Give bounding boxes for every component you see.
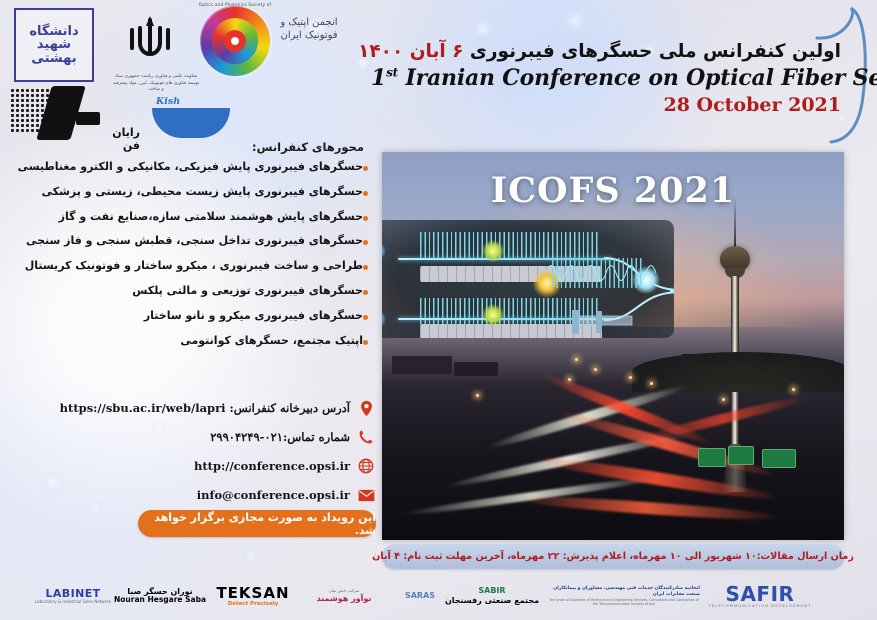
sponsor-nouran-label-en: Nouran Hesgare Saba: [114, 596, 206, 604]
sponsor-union-label-fa: اتحادیه صادرکنندگان خدمات فنی مهندسی، مش…: [548, 586, 700, 600]
bragg-grating-top: [420, 232, 600, 258]
sponsor-telecom-services-union: اتحادیه صادرکنندگان خدمات فنی مهندسی، مش…: [548, 576, 700, 616]
bullet-icon: [363, 290, 368, 295]
street-lamp: [629, 376, 632, 379]
sponsor-teksan-label: TEKSAN: [216, 585, 289, 602]
iran-emblem-icon: [122, 14, 178, 68]
bullet-icon: [363, 166, 368, 171]
sponsor-labinet: LABINET Laboratory & Industrial Sales Ne…: [26, 576, 120, 616]
tower-antenna-mast: [734, 192, 736, 250]
virtual-event-notice: این رویداد به صورت مجازی برگزار خواهد شد…: [138, 510, 376, 537]
sponsor-sabir-label: SABIR: [478, 587, 505, 596]
envelope-icon: [356, 485, 376, 505]
contact-email-text[interactable]: info@conference.opsi.ir: [10, 488, 350, 502]
conference-photo-panel: ICOFS 2021: [382, 152, 844, 540]
caliper-icon: [570, 308, 636, 336]
sponsor-rafsanjan-label: مجتمع صنعتی رفسنجان: [445, 596, 539, 605]
sponsor-safir-sub: TELECOMMUNICATION DEVELOPMENT: [709, 605, 812, 609]
deadlines-text: زمان ارسال مقالات:۱۰ شهریور الی ۱۰ مهرما…: [372, 551, 854, 562]
sponsor-union-label-en: The Union of Exporters of Technical and …: [548, 599, 700, 606]
sponsor-nouran-hesgare-saba: نوران حسگر صبا Nouran Hesgare Saba: [112, 576, 208, 616]
taillight-trail: [512, 493, 782, 524]
input-port-glow: [382, 310, 386, 328]
virtual-event-notice-text: این رویداد به صورت مجازی برگزار خواهد شد…: [138, 511, 376, 537]
hill-mass: [632, 352, 844, 392]
photonic-circuit-overlay: [382, 220, 674, 338]
street-lamp: [650, 382, 653, 385]
topic-item: حسگرهای پایش هوشمند سلامتی سازه،صنایع نف…: [6, 210, 378, 224]
title-ordinal-suffix: st: [386, 66, 398, 80]
street-lamp: [575, 358, 578, 361]
bullet-icon: [363, 240, 368, 245]
topics-heading: محورهای کنفرانس:: [6, 140, 378, 160]
contact-section: آدرس دبیرخانه کنفرانس: https://sbu.ac.ir…: [10, 398, 378, 514]
rayan-fan-bar-mark: [76, 112, 100, 125]
topic-label: حسگرهای فیبرنوری پایش فیزیکی، مکانیکی و …: [6, 160, 363, 174]
phone-icon: [356, 427, 376, 447]
contact-address-text: آدرس دبیرخانه کنفرانس: https://sbu.ac.ir…: [10, 401, 350, 415]
conference-poster: دانشگاه شهید بهشتی معاونت علمی و فناوری …: [0, 0, 877, 620]
sbu-logo-text: دانشگاه شهید بهشتی: [16, 25, 92, 66]
bokeh-dot: [240, 545, 262, 567]
street-lamp: [722, 398, 725, 401]
bokeh-dot: [470, 16, 496, 42]
sponsor-rafsanjan-industrial-complex: SABIR مجتمع صنعتی رفسنجان: [438, 576, 546, 616]
sponsor-teksan-tagline: Detect Precisely: [228, 601, 279, 607]
contact-row-phone: شماره تماس:۰۲۱-۲۹۹۰۴۲۴۹: [10, 427, 378, 447]
sponsor-saras-label: SARAS: [405, 592, 435, 601]
street-lamp: [594, 368, 597, 371]
title-persian-text: اولین کنفرانس ملی حسگرهای فیبرنوری: [470, 41, 841, 62]
title-english-text: Iranian Conference on Optical Fiber Sens…: [405, 65, 877, 91]
sponsor-safir: SAFIR TELECOMMUNICATION DEVELOPMENT: [700, 576, 820, 616]
kish-mechatronics-swoosh: [152, 108, 230, 138]
skyline-block: [454, 362, 498, 376]
contact-row-email: info@conference.opsi.ir: [10, 485, 378, 505]
globe-icon: [356, 456, 376, 476]
topic-item: حسگرهای فیبرنوری توزیعی و مالتی پلکس: [6, 284, 378, 298]
shahid-beheshti-university-logo: دانشگاه شهید بهشتی: [14, 8, 94, 82]
street-lamp: [792, 388, 795, 391]
topic-label: طراحی و ساخت فیبرنوری ، میکرو ساختار و ف…: [6, 259, 363, 273]
highway-sign: [698, 448, 726, 467]
sponsor-labinet-sub: Laboratory & Industrial Sales Network: [35, 600, 111, 604]
contact-phone-text: شماره تماس:۰۲۱-۲۹۹۰۴۲۴۹: [10, 430, 350, 444]
topic-item: حسگرهای فیبرنوری پایش زیست محیطی، زیستی …: [6, 185, 378, 199]
opsi-logo-fa-text: انجمن اپتیک و فوتونیک ایران: [276, 16, 342, 42]
title-english: 1st Iranian Conference on Optical Fiber …: [371, 65, 841, 91]
topic-item: حسگرهای فیبرنوری میکرو و نانو ساختار: [6, 309, 378, 323]
skyline-block: [392, 356, 452, 374]
topic-item: طراحی و ساخت فیبرنوری ، میکرو ساختار و ف…: [6, 259, 378, 273]
topic-label: اپتیک مجتمع، حسگرهای کوانتومی: [6, 334, 363, 348]
sponsor-safir-label: SAFIR: [726, 583, 795, 605]
light-source-glow: [482, 304, 504, 326]
optics-photonics-society-iran-logo: [200, 6, 270, 76]
street-lamp: [476, 394, 479, 397]
title-ordinal: 1: [371, 65, 386, 91]
title-persian-date: ۶ آبان ۱۴۰۰: [358, 41, 463, 62]
sponsor-logo-bar-top: دانشگاه شهید بهشتی معاونت علمی و فناوری …: [0, 0, 420, 150]
topic-label: حسگرهای فیبرنوری توزیعی و مالتی پلکس: [6, 284, 363, 298]
topic-label: حسگرهای پایش هوشمند سلامتی سازه،صنایع نف…: [6, 210, 363, 224]
title-block: اولین کنفرانس ملی حسگرهای فیبرنوری ۶ آبا…: [371, 40, 841, 116]
bokeh-dot: [560, 6, 590, 36]
topic-label: حسگرهای فیبرنوری میکرو و نانو ساختار: [6, 309, 363, 323]
map-pin-icon: [356, 398, 376, 418]
title-date-english: 28 October 2021: [371, 94, 841, 116]
contact-website-text[interactable]: http://conference.opsi.ir: [10, 459, 350, 473]
bullet-icon: [363, 315, 368, 320]
kish-mechatronics-logo: Kish Mechatronics: [148, 92, 234, 138]
rayan-fan-logo: رایان فن: [10, 86, 140, 142]
contact-row-website: http://conference.opsi.ir: [10, 456, 378, 476]
highway-night-scene: [382, 352, 844, 540]
topic-item: حسگرهای فیبرنوری تداخل سنجی، قطبش سنجی و…: [6, 234, 378, 248]
output-waveguide: [670, 290, 674, 292]
bullet-icon: [363, 340, 368, 345]
conference-topics-section: محورهای کنفرانس: حسگرهای فیبرنوری پایش ف…: [6, 140, 378, 358]
icofs-wordmark: ICOFS 2021: [382, 170, 844, 211]
sponsor-logo-bar-bottom: LABINET Laboratory & Industrial Sales Ne…: [0, 572, 877, 620]
topic-label: حسگرهای فیبرنوری تداخل سنجی، قطبش سنجی و…: [6, 234, 363, 248]
topic-label: حسگرهای فیبرنوری پایش زیست محیطی، زیستی …: [6, 185, 363, 199]
highway-sign: [762, 449, 796, 468]
opsi-outer-ring: [200, 6, 272, 78]
input-port-glow: [382, 242, 386, 260]
sponsor-noavar-hooshmand: شرکت دانش بنیان نوآور هوشمند: [296, 576, 392, 616]
sponsor-teksan: TEKSAN Detect Precisely: [208, 576, 298, 616]
bullet-icon: [363, 265, 368, 270]
sponsor-noavar-label: نوآور هوشمند: [317, 594, 372, 603]
light-source-glow: [482, 240, 504, 262]
deadlines-bar: زمان ارسال مقالات:۱۰ شهریور الی ۱۰ مهرما…: [382, 544, 844, 569]
bullet-icon: [363, 216, 368, 221]
contact-row-address: آدرس دبیرخانه کنفرانس: https://sbu.ac.ir…: [10, 398, 378, 418]
topic-item: حسگرهای فیبرنوری پایش فیزیکی، مکانیکی و …: [6, 160, 378, 174]
title-persian: اولین کنفرانس ملی حسگرهای فیبرنوری ۶ آبا…: [371, 40, 841, 63]
highway-sign: [728, 446, 754, 465]
signal-waveform: [546, 256, 656, 290]
topic-item: اپتیک مجتمع، حسگرهای کوانتومی: [6, 334, 378, 348]
bullet-icon: [363, 191, 368, 196]
